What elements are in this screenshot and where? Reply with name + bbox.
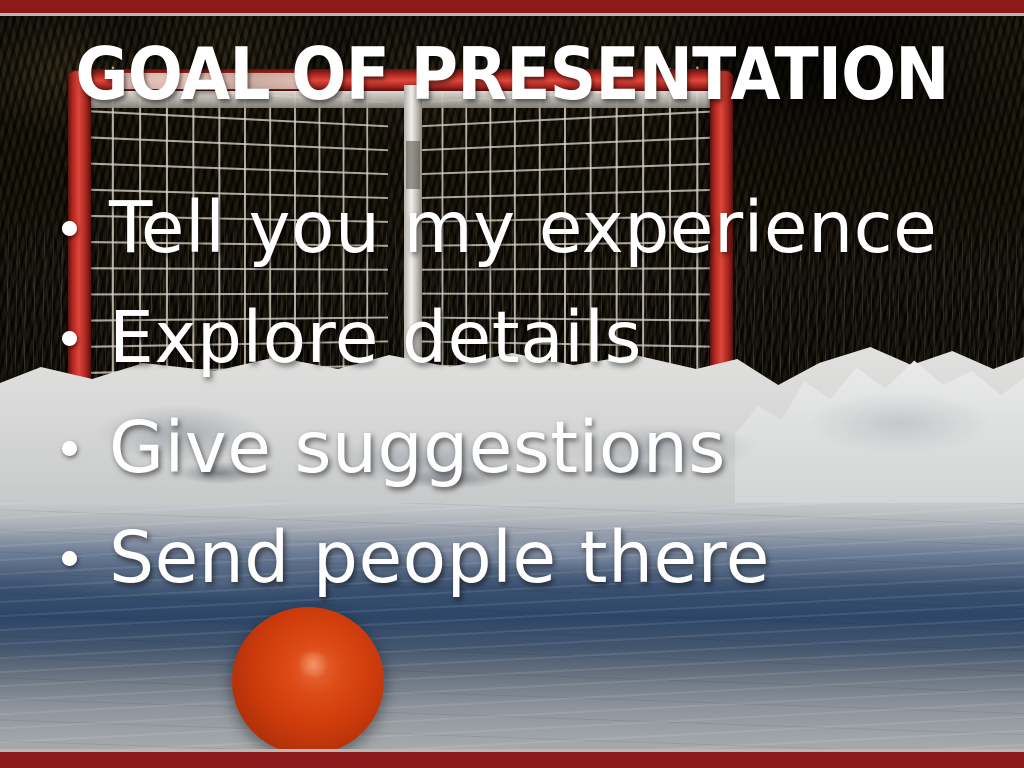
bullet-item-3: Give suggestions (62, 393, 962, 503)
slide-content: GOAL OF PRESENTATION Tell you my experie… (0, 13, 1024, 752)
bullet-dot-icon (62, 221, 77, 236)
bullet-dot-icon (62, 441, 77, 456)
bullet-item-4: Send people there (62, 503, 962, 613)
top-border-rule (0, 13, 1024, 16)
bullet-text-3: Give suggestions (109, 409, 726, 487)
bullet-list: Tell you my experience Explore details G… (62, 173, 962, 613)
slide-title: GOAL OF PRESENTATION (51, 37, 973, 111)
bullet-text-2: Explore details (109, 299, 642, 377)
bullet-dot-icon (62, 331, 77, 346)
bullet-item-1: Tell you my experience (62, 173, 962, 283)
bullet-dot-icon (62, 551, 77, 566)
bullet-item-2: Explore details (62, 283, 962, 393)
top-border-band (0, 0, 1024, 13)
bottom-border-band (0, 752, 1024, 768)
bullet-text-1: Tell you my experience (109, 189, 937, 267)
presentation-slide: GOAL OF PRESENTATION Tell you my experie… (0, 0, 1024, 768)
bullet-text-4: Send people there (109, 519, 770, 597)
